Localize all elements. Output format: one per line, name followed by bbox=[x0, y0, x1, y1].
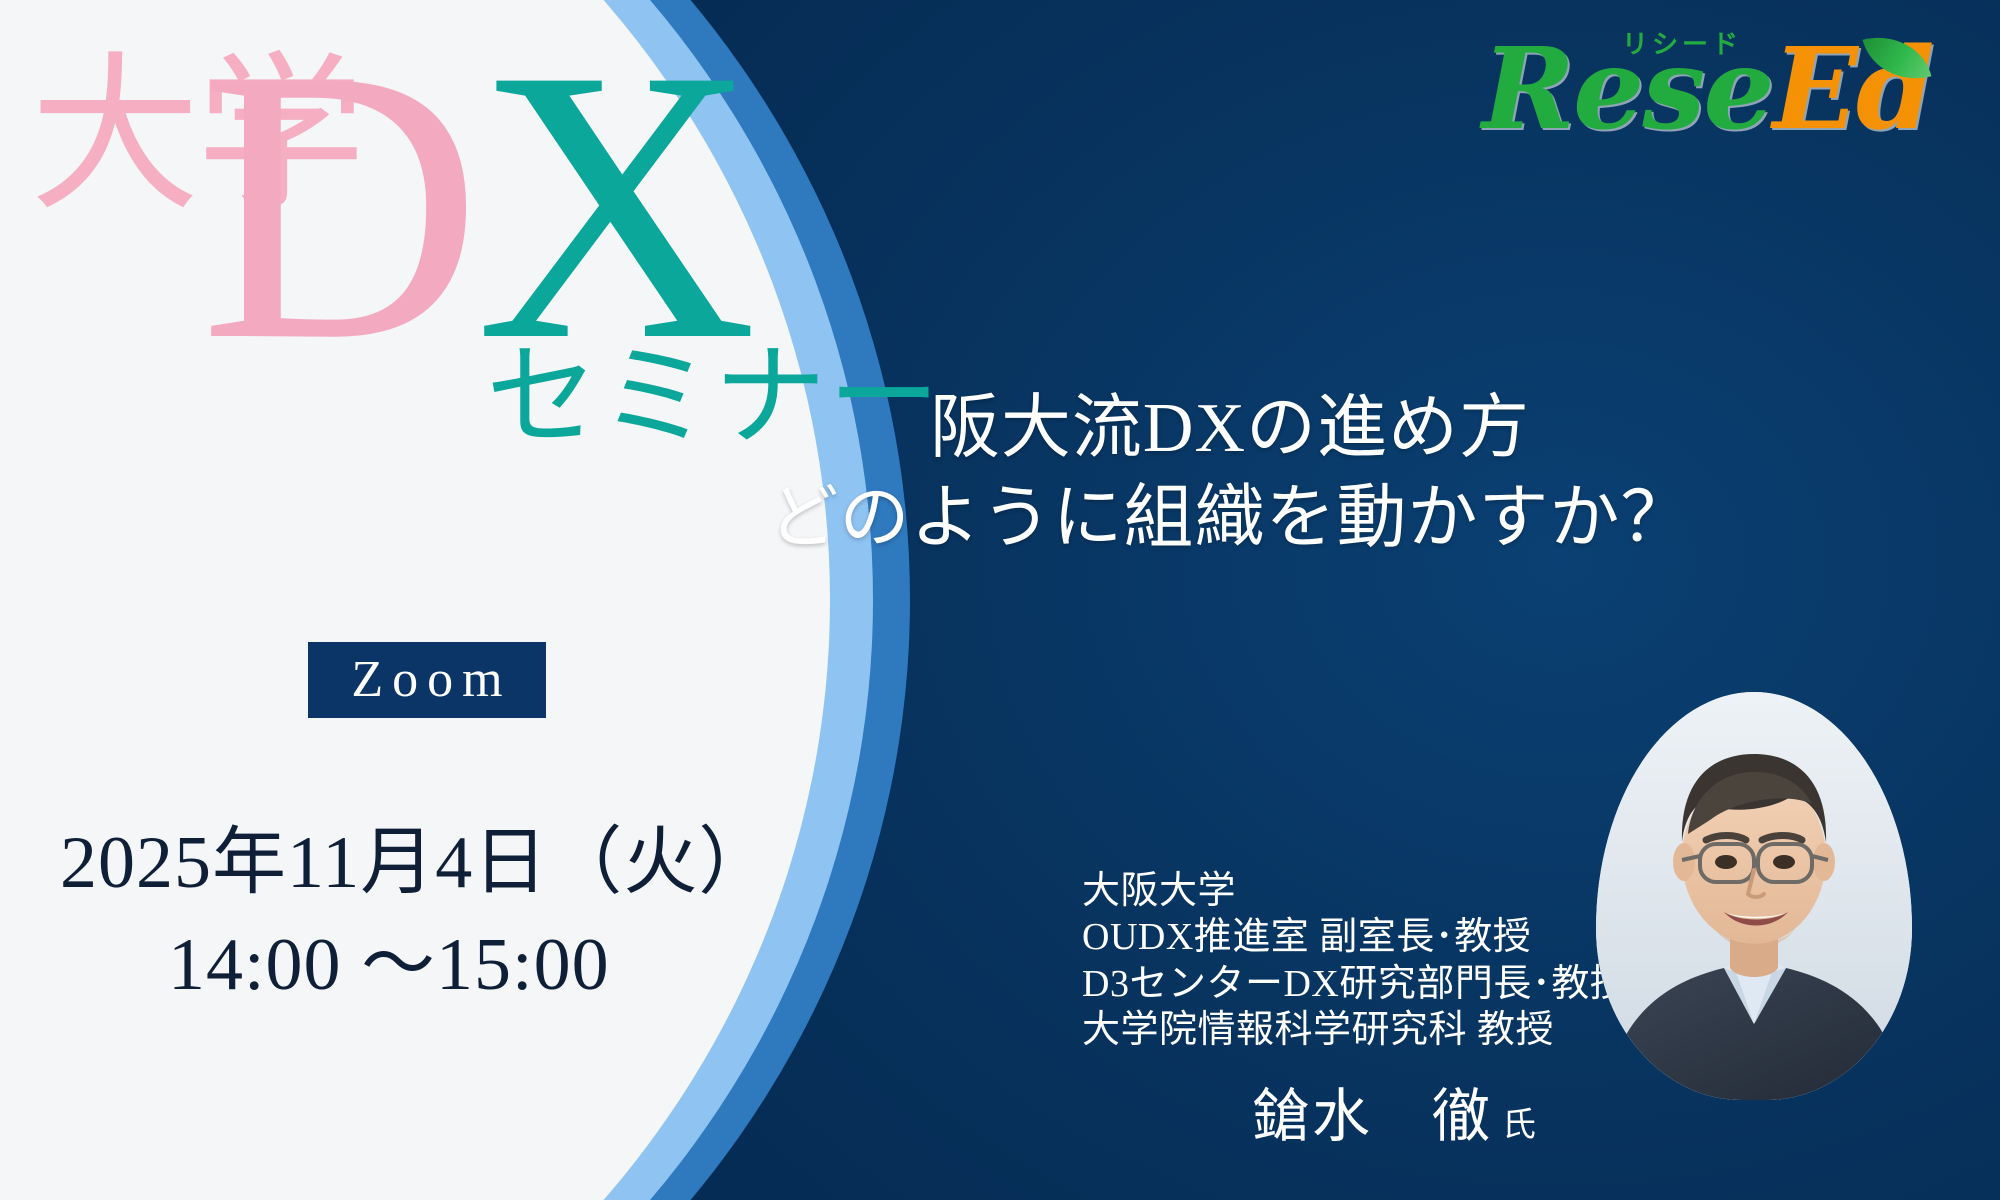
speaker-name: 鎗水 徹氏 bbox=[1252, 1088, 1538, 1146]
event-date: 2025年11月4日（火） bbox=[60, 826, 773, 900]
seminar-poster: リシード ReseEd 大学 DX セミナー Zoom 2025年11月4日（火… bbox=[0, 0, 2000, 1200]
headline-line-1: 阪大流DXの進め方 bbox=[769, 384, 1692, 474]
speaker-name-suffix: 氏 bbox=[1502, 1107, 1538, 1144]
speaker-organization: 大阪大学 bbox=[1082, 868, 1628, 914]
logo-text-orange: Ed bbox=[1773, 24, 1933, 155]
platform-badge: Zoom bbox=[308, 642, 546, 718]
speaker-name-text: 鎗水 徹 bbox=[1252, 1084, 1492, 1149]
event-time: 14:00 ～15:00 bbox=[168, 928, 610, 1002]
headline: 阪大流DXの進め方 どのように組織を動かすか？ bbox=[769, 384, 1692, 563]
speaker-title-3: 大学院情報科学研究科 教授 bbox=[1082, 1007, 1628, 1053]
platform-badge-label: Zoom bbox=[342, 654, 511, 706]
reseed-logo[interactable]: リシード ReseEd bbox=[1482, 18, 1922, 154]
logo-text-green: Rese bbox=[1482, 24, 1773, 155]
headline-line-2: どのように組織を動かすか？ bbox=[769, 474, 1692, 564]
title-dx-d: D bbox=[200, 0, 476, 421]
logo-wordmark: ReseEd bbox=[1482, 34, 1932, 146]
speaker-title-1: OUDX推進室 副室長･教授 bbox=[1082, 914, 1628, 960]
speaker-credentials: 大阪大学 OUDX推進室 副室長･教授 D3センターDX研究部門長･教授 大学院… bbox=[1082, 868, 1628, 1053]
speaker-title-2: D3センターDX研究部門長･教授 bbox=[1082, 961, 1628, 1007]
